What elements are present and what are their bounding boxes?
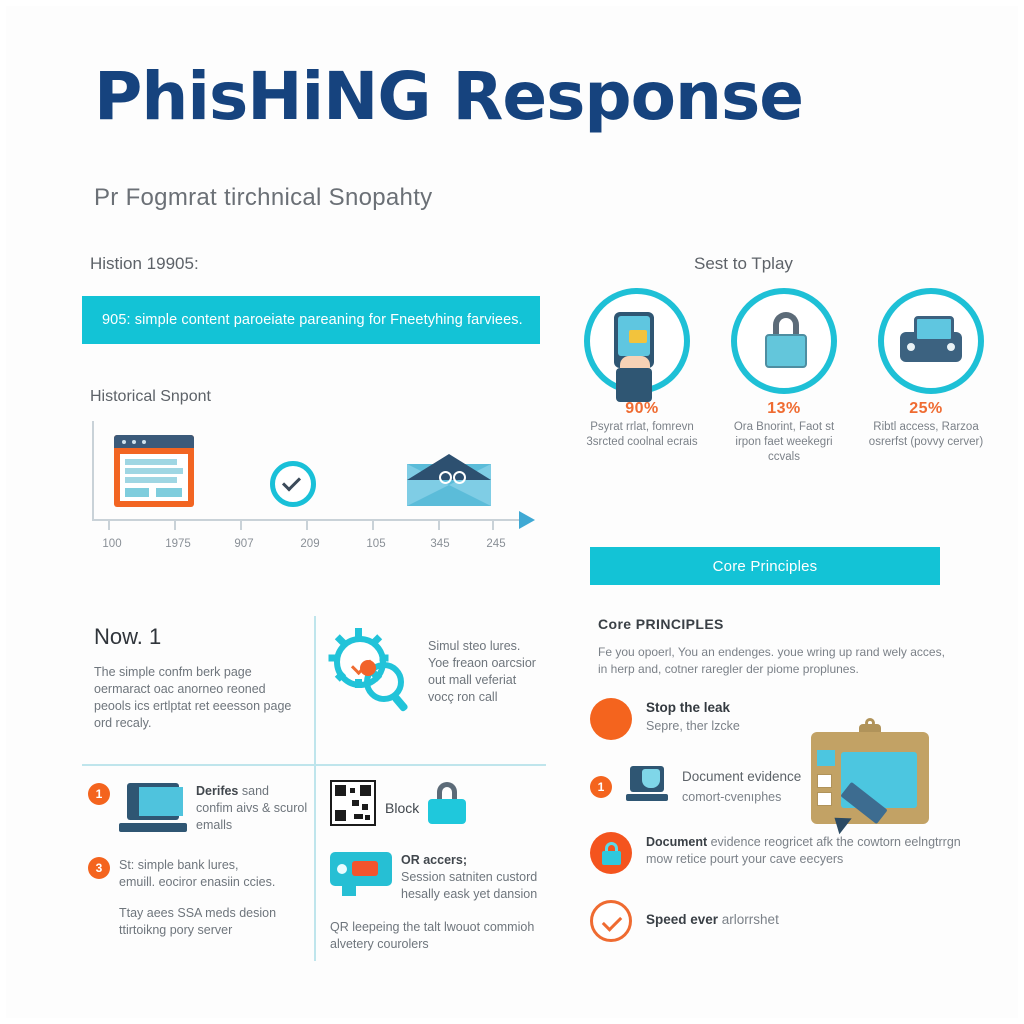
block-row: Block — [330, 780, 545, 826]
timeline-y-axis — [92, 421, 94, 521]
core-principles-banner: Core Principles — [590, 547, 940, 585]
phone-in-hand-icon — [584, 288, 690, 394]
verify-text: Derifes sand confim aivs & scurol emalls — [196, 783, 308, 834]
quadrant-block: Block OR accers; Session satniten custor… — [330, 780, 545, 953]
stat-item: 25% Ribtl access, Rarzoa osrerfst (povvy… — [862, 400, 990, 465]
principle-text: Speed ever arlorrshet — [646, 902, 779, 928]
block-label: Block — [385, 790, 419, 817]
stat-item: 13% Ora Bnorint, Faot st irpon faet week… — [720, 400, 848, 465]
quadrant-grid: Now. 1 The simple confm berk page oermar… — [82, 588, 546, 988]
timeline-tick-label: 345 — [430, 538, 449, 550]
stat-percent: 25% — [862, 400, 990, 418]
principle-body: arlorrshet — [718, 912, 779, 927]
open-envelope-icon — [407, 454, 491, 506]
quadrant-lures: Simul steo lures. Yoe freaon oarcsior ou… — [330, 632, 540, 712]
stat-percent: 13% — [720, 400, 848, 418]
qr-scanner-icon — [330, 852, 392, 898]
browser-window-icon — [114, 435, 194, 507]
stat-caption: Ribtl access, Rarzoa osrerfst (povvy cer… — [862, 420, 990, 450]
padlock-icon — [731, 288, 837, 394]
principle-body: comort-cvenıphes — [682, 789, 801, 806]
timeline-tick-label: 1975 — [165, 538, 191, 550]
stat-caption: Ora Bnorint, Faot st irpon faet weekegri… — [720, 420, 848, 465]
snapshot-label: Historical Snpont — [90, 388, 211, 406]
core-principles-heading: Core PRINCIPLES — [598, 616, 724, 632]
step-badge: 1 — [88, 783, 110, 805]
stat-icons-row — [584, 288, 984, 398]
stat-item: 90% Psyrat rrlat, fomrevn 3srcted coolna… — [578, 400, 706, 465]
qr-access-footer: QR leepeing the talt lwouot commioh alve… — [330, 919, 545, 953]
verify-text-bold: Derifes — [196, 784, 238, 798]
timeline-tick-label: 100 — [102, 538, 121, 550]
principle-bold: Document evidence — [682, 769, 801, 784]
quadrant-now-body: The simple confm berk page oermaract oac… — [94, 664, 294, 732]
principle-body: Sepre, ther lzcke — [646, 718, 740, 735]
page-subtitle: Pr Fogmrat tirchnical Snopahty — [94, 184, 432, 212]
infographic-page: PhisHiNG Response Pr Fogmrat tirchnical … — [0, 0, 1024, 1024]
gear-magnifier-icon — [330, 632, 416, 712]
history-banner: 905: simple content paroeiate pareaning … — [82, 296, 540, 344]
check-circle-icon — [590, 900, 632, 942]
principle-text: Document evidence — [682, 768, 801, 786]
qr-access-body: Session satniten custord hesally eask ye… — [401, 869, 545, 903]
step-badge: 3 — [88, 857, 110, 879]
core-principles-banner-text: Core Principles — [713, 558, 818, 575]
list-item: Document evidence reogricet afk the cowt… — [590, 832, 990, 874]
history-banner-text: 905: simple content paroeiate pareaning … — [82, 312, 523, 328]
bank-lures-line4: ttirtoikng pory server — [119, 922, 276, 939]
principle-bold: Document — [646, 835, 707, 849]
quadrant-now-title: Now. 1 — [94, 624, 294, 650]
principle-text: Document evidence reogricet afk the cowt… — [646, 834, 976, 868]
quadrant-lures-body: Simul steo lures. Yoe freaon oarcsior ou… — [428, 632, 540, 712]
lock-circle-icon — [590, 832, 632, 874]
bank-lures-line3: Ttay aees SSA meds desion — [119, 905, 276, 922]
qr-code-icon — [330, 780, 376, 826]
history-label: Histion 19905: — [90, 254, 199, 274]
stat-percent: 90% — [578, 400, 706, 418]
core-principles-body: Fe you opoerl, You an endenges. youe wri… — [598, 644, 956, 678]
bank-lures-text: St: simple bank lures, emuill. eociror e… — [119, 857, 276, 939]
stats-heading: Sest to Tplay — [694, 254, 793, 274]
bank-lures-line1: St: simple bank lures, — [119, 857, 276, 874]
quadrant-verify: 1 Derifes sand confim aivs & scurol emal… — [88, 783, 308, 939]
orange-circle-icon — [590, 698, 632, 740]
timeline-tick-label: 209 — [300, 538, 319, 550]
qr-access-text: OR accers; Session satniten custord hesa… — [401, 852, 545, 903]
padlock-icon — [428, 782, 466, 824]
list-item: 1 Derifes sand confim aivs & scurol emal… — [88, 783, 308, 835]
grid-divider-vertical — [314, 616, 316, 961]
timeline: 100 1975 907 209 105 345 245 — [82, 421, 552, 561]
mini-laptop-icon — [626, 766, 668, 806]
check-circle-icon — [270, 461, 316, 507]
principle-title: Stop the leak — [646, 700, 740, 715]
bank-lures-line2: emuill. eociror enasiin ccies. — [119, 874, 276, 891]
list-item: Speed ever arlorrshet — [590, 900, 990, 942]
grid-divider-horizontal — [82, 764, 546, 766]
car-dashboard-icon — [878, 288, 984, 394]
stats-row: 90% Psyrat rrlat, fomrevn 3srcted coolna… — [578, 400, 990, 465]
timeline-arrow-icon — [519, 511, 535, 529]
qr-access-title: OR accers; — [401, 853, 467, 867]
page-title: PhisHiNG Response — [94, 58, 803, 135]
list-item: 3 St: simple bank lures, emuill. eociror… — [88, 857, 308, 939]
timeline-tick-label: 245 — [486, 538, 505, 550]
principle-bold: Speed ever — [646, 912, 718, 927]
stat-caption: Psyrat rrlat, fomrevn 3srcted coolnal ec… — [578, 420, 706, 450]
clipboard-with-pen-icon — [811, 724, 939, 832]
timeline-tick-label: 105 — [366, 538, 385, 550]
step-badge: 1 — [590, 776, 612, 798]
quadrant-now: Now. 1 The simple confm berk page oermar… — [94, 624, 294, 732]
qr-access-row: OR accers; Session satniten custord hesa… — [330, 852, 545, 903]
laptop-icon — [119, 783, 187, 835]
timeline-tick-label: 907 — [234, 538, 253, 550]
